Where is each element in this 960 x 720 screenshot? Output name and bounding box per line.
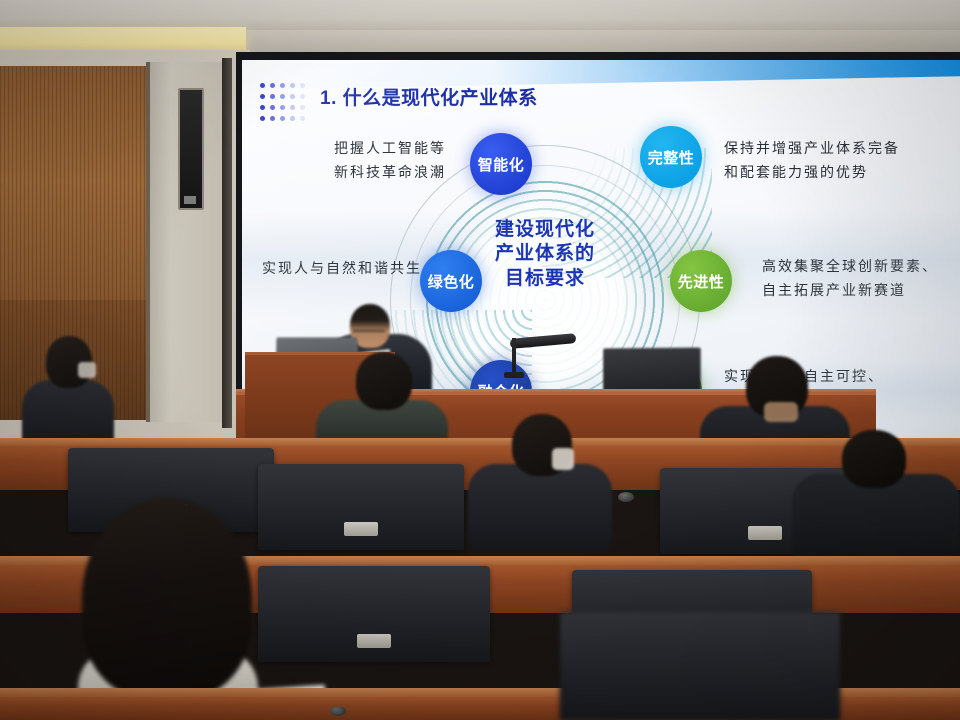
caption-line: 保持并增强产业体系完备 (724, 138, 900, 162)
person-head (842, 430, 906, 488)
caption-lvsehua: 实现人与自然和谐共生 (262, 258, 422, 282)
center-line-1: 建设现代化 (440, 218, 650, 242)
caption-line: 把握人工智能等 (334, 138, 446, 162)
audience-person-5 (792, 430, 960, 558)
caption-line: 实现人与自然和谐共生 (262, 258, 422, 282)
audience-person-4 (468, 414, 612, 546)
caption-zhinenghua: 把握人工智能等 新科技革命浪潮 (334, 138, 446, 186)
audience-person-1 (22, 336, 114, 454)
bubble-xianjinxing: 先进性 (670, 250, 732, 312)
person-head (82, 498, 252, 698)
person-head (356, 352, 412, 410)
desk-grommet-3 (330, 706, 346, 716)
dot-grid-icon (260, 83, 312, 129)
person-neck (764, 402, 798, 422)
chair-plate (357, 634, 391, 648)
slide-title: 1. 什么是现代化产业体系 (320, 83, 538, 110)
person-body (468, 464, 612, 550)
chair-back-6 (560, 612, 840, 720)
microphone-base (504, 372, 524, 378)
person-mask-icon (78, 362, 96, 378)
chair-back-2 (258, 464, 464, 550)
caption-line: 新科技革命浪潮 (334, 162, 446, 186)
microphone-stem (512, 338, 516, 374)
lecture-hall-photo: 1. 什么是现代化产业体系 建设现代化 产业体系的 目标要求 智能化 完整性 绿… (0, 0, 960, 720)
caption-line: 自主拓展产业新赛道 (762, 280, 938, 304)
chair-plate (344, 522, 378, 536)
presenter-glasses-icon (353, 330, 385, 335)
door-frame (222, 58, 232, 428)
person-mask-icon (552, 448, 574, 470)
bubble-zhinenghua: 智能化 (470, 133, 532, 195)
caption-line: 高效集聚全球创新要素、 (762, 256, 938, 280)
chair-plate (748, 526, 782, 540)
speaker-led-icon (184, 196, 196, 204)
caption-wanzhengxing: 保持并增强产业体系完备 和配套能力强的优势 (724, 138, 900, 186)
chair-back-4 (258, 566, 490, 662)
bubble-wanzhengxing: 完整性 (640, 126, 702, 188)
caption-line: 和配套能力强的优势 (724, 162, 900, 186)
wall-speaker-icon (178, 88, 204, 210)
desk-monitor (603, 348, 701, 395)
pillar-edge (146, 62, 150, 422)
ceiling-strip (230, 30, 960, 52)
caption-xianjinxing: 高效集聚全球创新要素、 自主拓展产业新赛道 (762, 256, 938, 304)
desk-grommet-1 (618, 492, 634, 502)
audience-person-6 (58, 498, 270, 720)
